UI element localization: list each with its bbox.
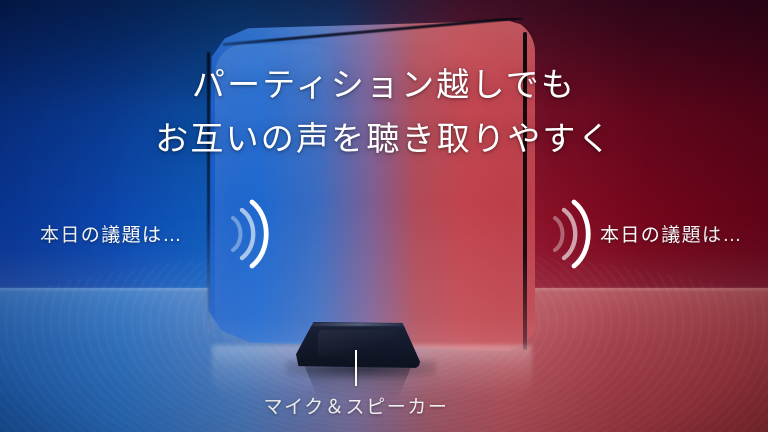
panel-top-edge bbox=[223, 18, 523, 60]
callout-caption: マイク＆スピーカー bbox=[0, 392, 768, 419]
base-unit-face-sheen bbox=[318, 330, 396, 356]
sound-wave-icon bbox=[226, 196, 272, 272]
left-speech-label: 本日の議題は… bbox=[40, 220, 183, 247]
right-speech-label: 本日の議題は… bbox=[600, 220, 743, 247]
scene-root: パーティション越しでも お互いの声を聴き取りやすく 本日の議題は… 本日の議題は… bbox=[0, 0, 768, 432]
headline-line-2: お互いの声を聴き取りやすく bbox=[0, 112, 768, 166]
mic-speaker-base-unit bbox=[296, 322, 420, 368]
base-unit-top-highlight bbox=[310, 323, 406, 326]
page-title: パーティション越しでも お互いの声を聴き取りやすく bbox=[0, 58, 768, 166]
callout-leader-line bbox=[355, 350, 357, 386]
sound-wave-icon bbox=[548, 196, 594, 272]
headline-line-1: パーティション越しでも bbox=[0, 58, 768, 112]
callout-caption-text: マイク＆スピーカー bbox=[263, 392, 448, 419]
